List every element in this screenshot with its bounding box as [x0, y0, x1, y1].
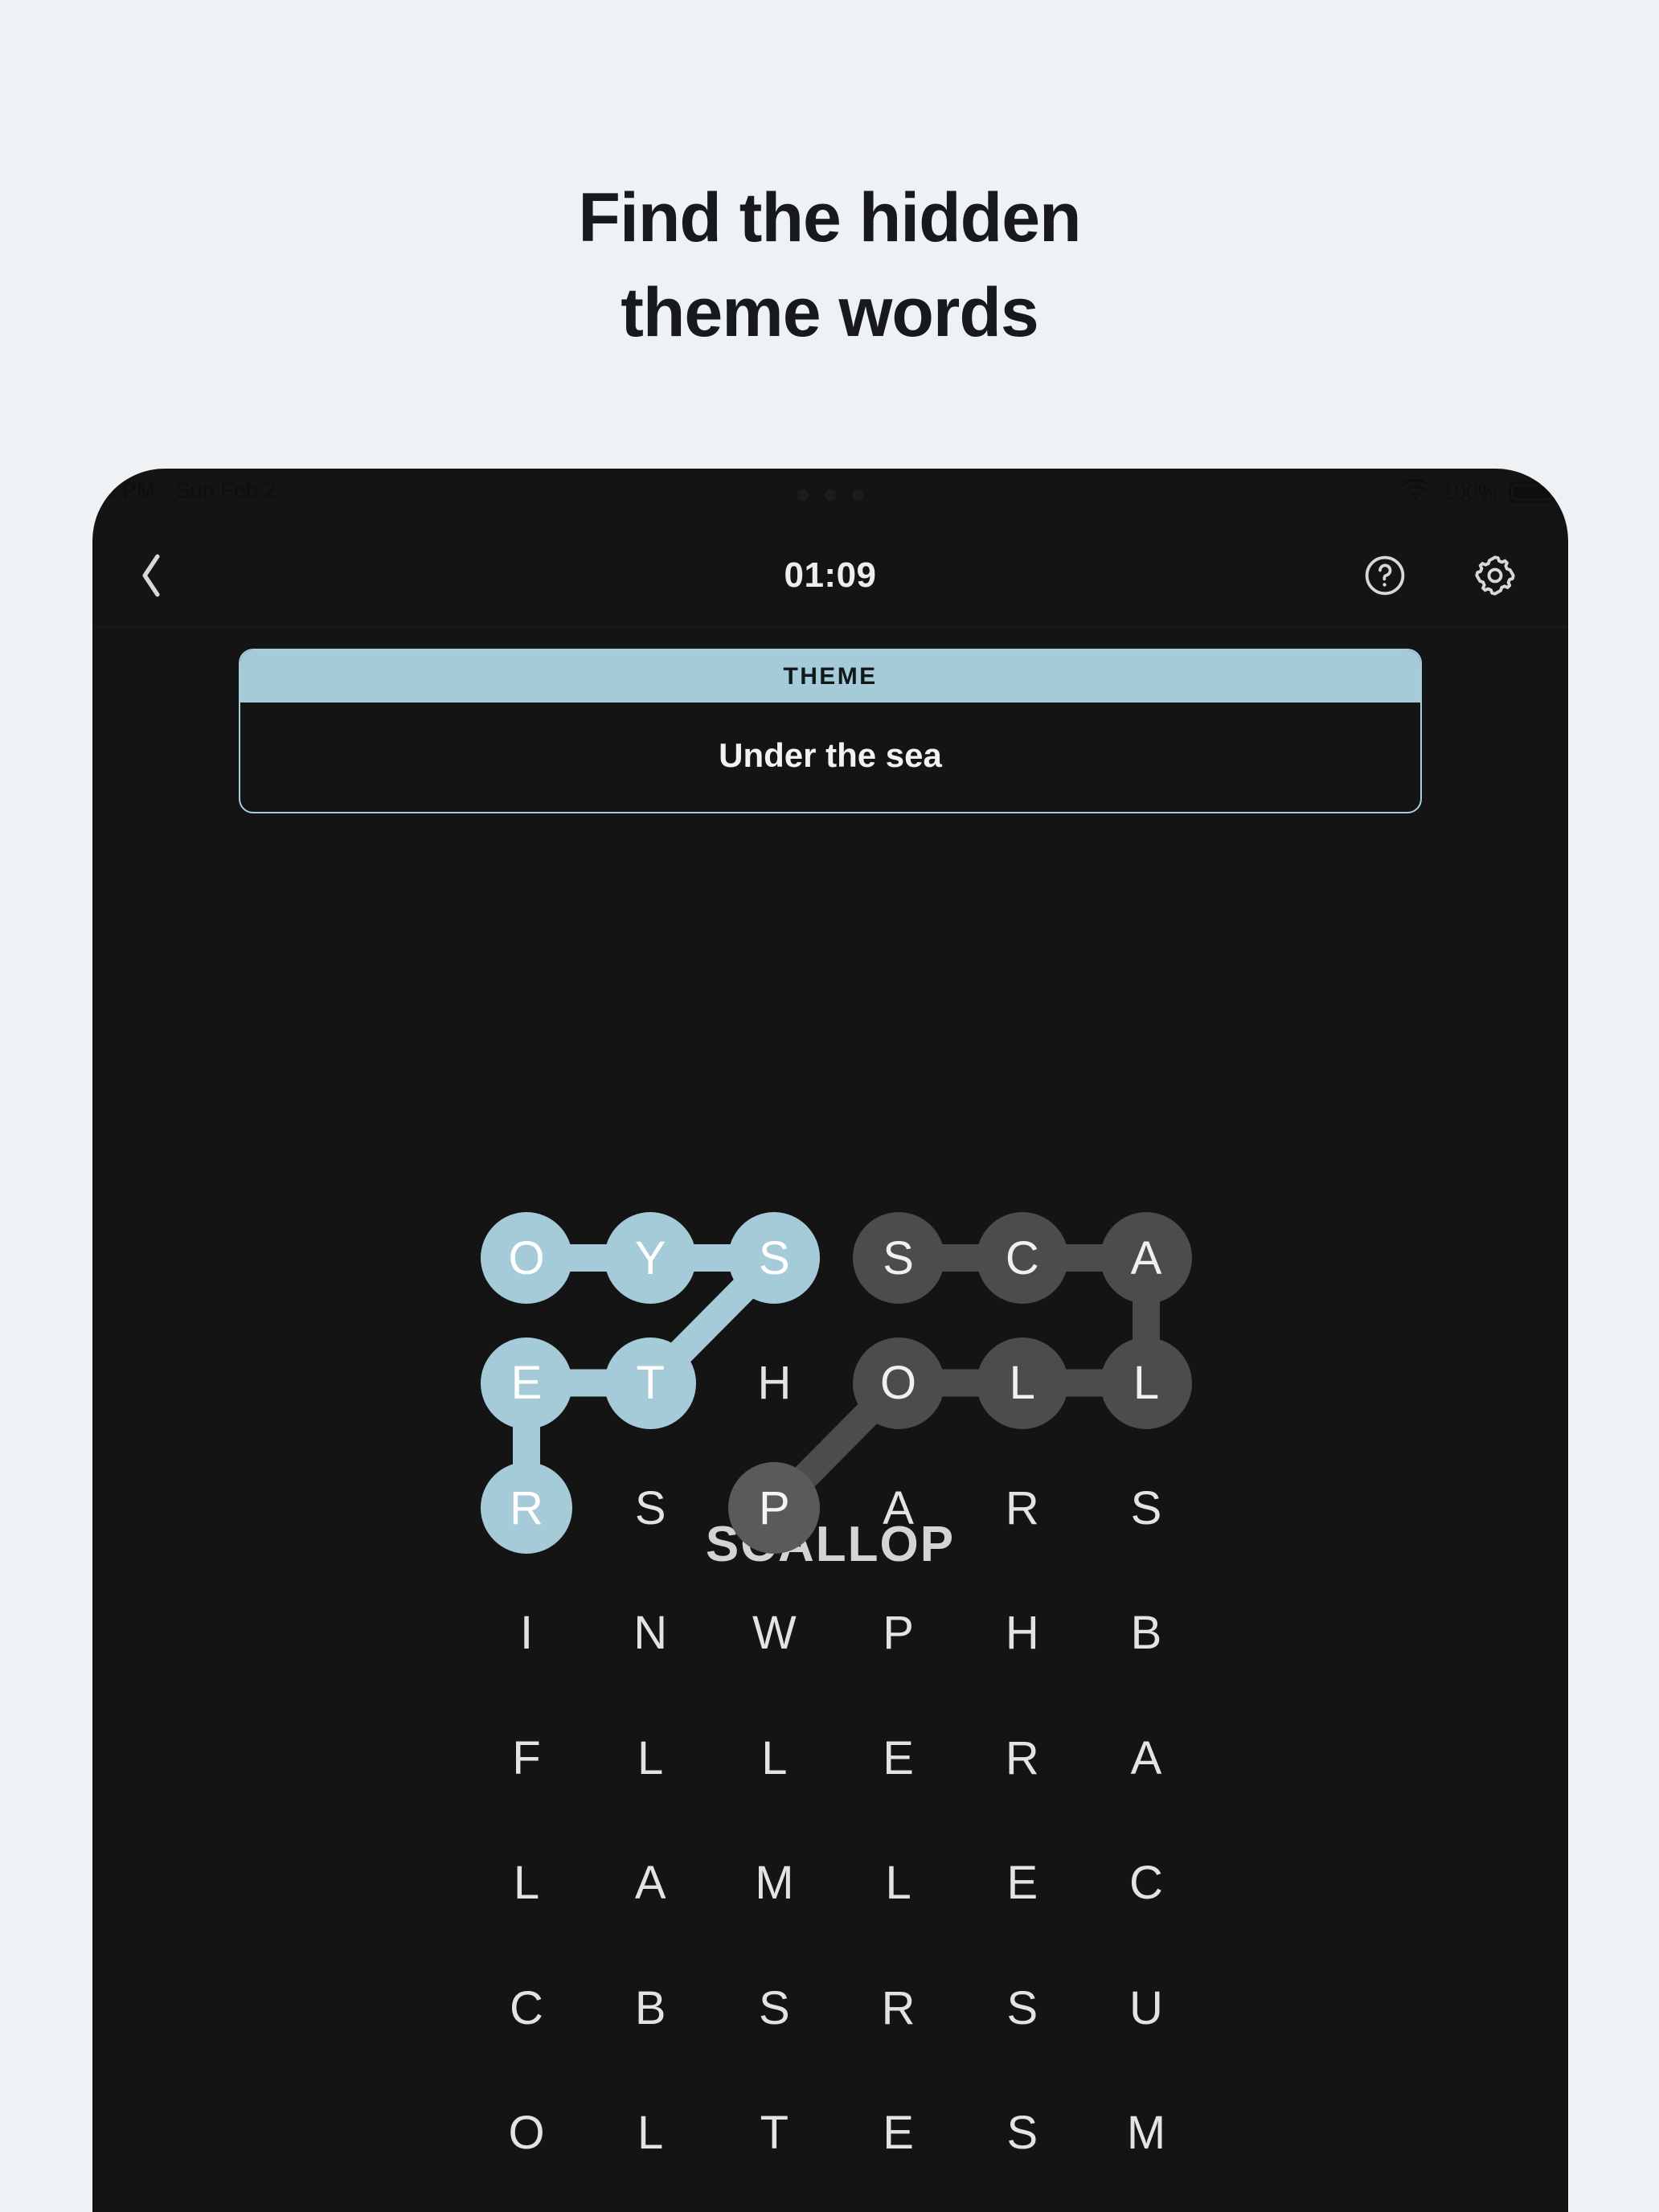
grid-cell-r7-c2[interactable]: B [604, 1962, 696, 2054]
settings-button[interactable] [1472, 552, 1518, 599]
grid-cell-r6-c1[interactable]: L [481, 1837, 572, 1929]
app-top-bar: 01:09 [92, 523, 1568, 628]
grid-cell-r8-c1[interactable]: O [481, 2087, 572, 2179]
grid-cell-r5-c4[interactable]: E [853, 1712, 944, 1804]
promo-heading-line2: theme words [0, 278, 1659, 347]
grid-cell-r3-c4[interactable]: A [853, 1462, 944, 1554]
game-timer: 01:09 [784, 555, 876, 596]
grid-cell-r8-c3[interactable]: T [728, 2087, 820, 2179]
grid-cell-r6-c4[interactable]: L [853, 1837, 944, 1929]
grid-cell-r2-c2[interactable]: T [604, 1337, 696, 1429]
theme-card: THEME Under the sea [239, 649, 1422, 813]
grid-cell-r8-c2[interactable]: L [604, 2087, 696, 2179]
grid-cell-r7-c6[interactable]: U [1100, 1962, 1192, 2054]
theme-card-label: THEME [240, 650, 1420, 703]
theme-card-value: Under the sea [240, 703, 1420, 812]
grid-cell-r1-c5[interactable]: C [977, 1212, 1068, 1304]
grid-cell-r6-c3[interactable]: M [728, 1837, 820, 1929]
grid-cell-r2-c6[interactable]: L [1100, 1337, 1192, 1429]
grid-cell-r4-c1[interactable]: I [481, 1587, 572, 1679]
grid-cell-r7-c1[interactable]: C [481, 1962, 572, 2054]
grid-cell-r5-c6[interactable]: A [1100, 1712, 1192, 1804]
grid-cell-r4-c3[interactable]: W [728, 1587, 820, 1679]
grid-cell-r1-c6[interactable]: A [1100, 1212, 1192, 1304]
grid-cell-r2-c1[interactable]: E [481, 1337, 572, 1429]
grid-cell-r3-c1[interactable]: R [481, 1462, 572, 1554]
status-bar-left: :49 PM Sun Feb 2 [92, 478, 276, 503]
grid-cell-r4-c2[interactable]: N [604, 1587, 696, 1679]
status-bar-date: Sun Feb 2 [176, 478, 276, 503]
grid-cell-r7-c5[interactable]: S [977, 1962, 1068, 2054]
three-dots-icon [797, 490, 863, 501]
grid-cell-r7-c4[interactable]: R [853, 1962, 944, 2054]
selection-path-scallop [774, 1258, 1146, 1508]
grid-cell-r3-c2[interactable]: S [604, 1462, 696, 1554]
wifi-icon [1400, 478, 1431, 506]
status-bar-time: :49 PM [92, 478, 155, 503]
grid-cell-r2-c4[interactable]: O [853, 1337, 944, 1429]
current-word: SCALLOP [92, 1516, 1568, 1573]
grid-cell-r2-c3[interactable]: H [728, 1337, 820, 1429]
grid-cell-r1-c4[interactable]: S [853, 1212, 944, 1304]
back-button[interactable] [123, 547, 179, 604]
grid-cell-r5-c1[interactable]: F [481, 1712, 572, 1804]
battery-percent-label: 100% [1442, 480, 1497, 505]
grid-cell-r3-c6[interactable]: S [1100, 1462, 1192, 1554]
grid-cell-r3-c3[interactable]: P [728, 1462, 820, 1554]
promo-heading-line1: Find the hidden [578, 179, 1080, 256]
grid-cell-r6-c6[interactable]: C [1100, 1837, 1192, 1929]
grid-cell-r2-c5[interactable]: L [977, 1337, 1068, 1429]
grid-cell-r6-c2[interactable]: A [604, 1837, 696, 1929]
grid-cell-r8-c4[interactable]: E [853, 2087, 944, 2179]
device-frame: :49 PM Sun Feb 2 100% 01:09 [92, 469, 1568, 2212]
grid-cell-r1-c2[interactable]: Y [604, 1212, 696, 1304]
status-bar-right: 100% [1400, 478, 1555, 506]
grid-cell-r1-c3[interactable]: S [728, 1212, 820, 1304]
grid-cell-r7-c3[interactable]: S [728, 1962, 820, 2054]
grid-cell-r4-c5[interactable]: H [977, 1587, 1068, 1679]
grid-cell-r8-c6[interactable]: M [1100, 2087, 1192, 2179]
grid-cell-r5-c2[interactable]: L [604, 1712, 696, 1804]
promo-heading: Find the hidden theme words [0, 183, 1659, 347]
ios-status-bar: :49 PM Sun Feb 2 100% [92, 469, 1568, 523]
battery-icon [1509, 481, 1555, 503]
grid-cell-r1-c1[interactable]: O [481, 1212, 572, 1304]
grid-cell-r5-c3[interactable]: L [728, 1712, 820, 1804]
grid-cell-r4-c4[interactable]: P [853, 1587, 944, 1679]
grid-cell-r8-c5[interactable]: S [977, 2087, 1068, 2179]
grid-cell-r4-c6[interactable]: B [1100, 1587, 1192, 1679]
grid-cell-r3-c5[interactable]: R [977, 1462, 1068, 1554]
help-button[interactable] [1362, 553, 1407, 598]
grid-cell-r6-c5[interactable]: E [977, 1837, 1068, 1929]
grid-cell-r5-c5[interactable]: R [977, 1712, 1068, 1804]
